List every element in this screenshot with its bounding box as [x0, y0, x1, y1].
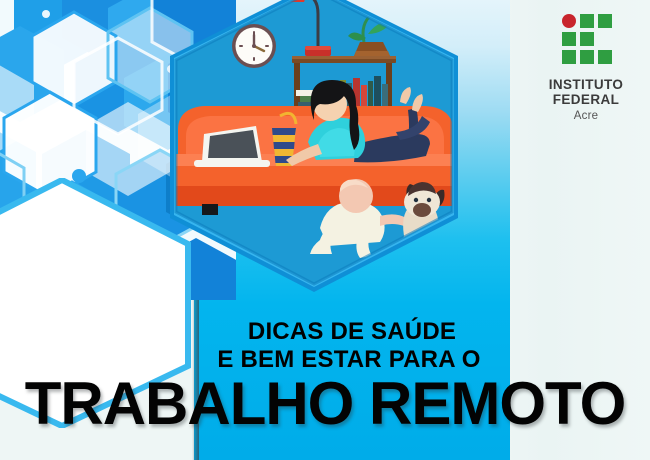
subheadline-line-1: DICAS DE SAÚDE [194, 318, 510, 346]
subheadline: DICAS DE SAÚDE E BEM ESTAR PARA O [194, 318, 510, 374]
logo-institution-name: INSTITUTO FEDERAL [536, 78, 636, 107]
logo-campus-name: Acre [536, 110, 636, 122]
illustration-remote-work-scene [168, 0, 460, 296]
poster-canvas: INSTITUTO FEDERAL Acre DICAS DE SAÚDE E … [0, 0, 650, 460]
logo-line-1: INSTITUTO [536, 78, 636, 93]
institution-logo: INSTITUTO FEDERAL Acre [536, 8, 636, 122]
if-logo-mark [554, 14, 618, 70]
main-headline: TRABALHO REMOTO [0, 372, 650, 436]
logo-line-2: FEDERAL [536, 93, 636, 108]
